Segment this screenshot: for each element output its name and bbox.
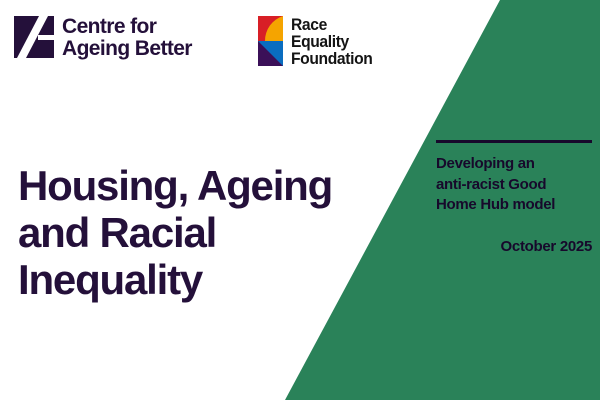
report-cover: Centre for Ageing Better Race Equality F… (0, 0, 600, 400)
race-equality-foundation-mark (258, 16, 283, 66)
centre-for-ageing-better-logo: Centre for Ageing Better (14, 16, 192, 60)
panel-content: Developing an anti-racist Good Home Hub … (436, 140, 592, 255)
panel-subtitle: Developing an anti-racist Good Home Hub … (436, 154, 592, 216)
page-title: Housing, Ageing and Racial Inequality (18, 162, 388, 303)
centre-for-ageing-better-mark (14, 16, 54, 58)
panel-divider (436, 140, 592, 143)
race-equality-foundation-wordmark: Race Equality Foundation (291, 16, 372, 67)
race-equality-foundation-logo: Race Equality Foundation (258, 16, 380, 67)
logo-bar: Centre for Ageing Better Race Equality F… (14, 16, 379, 67)
centre-for-ageing-better-wordmark: Centre for Ageing Better (62, 16, 192, 60)
panel-date: October 2025 (436, 238, 592, 255)
